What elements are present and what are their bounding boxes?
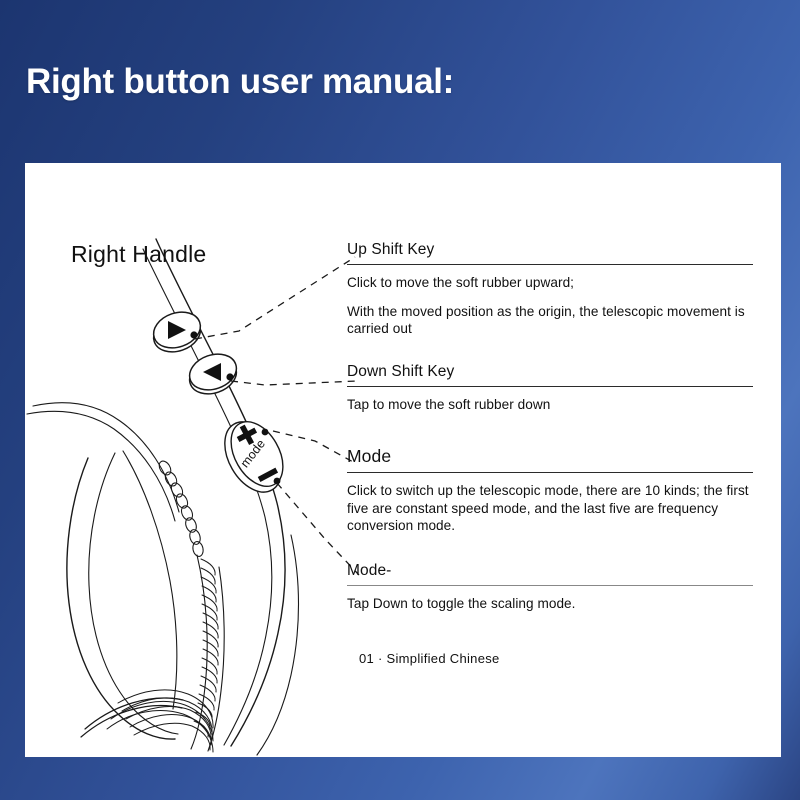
page-title: Right button user manual: [26,62,454,102]
shell-top-left-edge [33,403,179,512]
coil-base-detail [107,690,213,752]
spec-line: With the moved position as the origin, t… [347,303,753,338]
spec-block-down-shift-key: Down Shift Key Tap to move the soft rubb… [347,363,753,414]
mode-plus-dot-icon [262,429,269,436]
spec-heading: Mode- [347,562,753,586]
ribbed-texture-strip [194,559,218,737]
leader-down-shift [231,381,357,385]
body-right-silhouette [257,535,299,755]
cavity-outer [67,458,175,739]
spec-line: Tap to move the soft rubber down [347,396,753,414]
leader-up-shift [195,257,355,339]
spec-block-mode-minus: Mode- Tap Down to toggle the scaling mod… [347,562,753,613]
spec-body: Tap Down to toggle the scaling mode. [347,586,753,613]
content-card: mode Right Handle Up Shift Key [25,163,781,757]
spec-line: Tap Down to toggle the scaling mode. [347,595,753,613]
cavity-inner [89,453,178,734]
spec-block-up-shift-key: Up Shift Key Click to move the soft rubb… [347,241,753,338]
up-key-dot-icon [190,331,197,338]
spec-heading: Mode [347,446,753,473]
right-handle-label: Right Handle [71,241,206,268]
spec-line: Click to move the soft rubber upward; [347,274,753,292]
leader-lines [195,257,359,575]
up-shift-key-button[interactable] [149,306,205,358]
leader-mode [273,431,355,463]
spec-list: Up Shift Key Click to move the soft rubb… [347,163,767,757]
rib-strip-left-edge [191,555,207,749]
footnote-label: 01 · Simplified Chinese [359,651,500,666]
spec-body: Click to move the soft rubber upward; Wi… [347,265,753,338]
spec-heading: Up Shift Key [347,241,753,265]
down-key-dot-icon [226,373,233,380]
spec-block-mode: Mode Click to switch up the telescopic m… [347,446,753,535]
spec-body: Tap to move the soft rubber down [347,387,753,414]
mode-button[interactable]: mode [213,412,293,502]
shell-top-left-edge-2 [27,411,175,521]
spec-body: Click to switch up the telescopic mode, … [347,473,753,535]
device-illustration: mode Right Handle [25,163,385,757]
cavity-wall [123,451,177,709]
manual-slide: Right button user manual: [0,0,800,800]
spec-heading: Down Shift Key [347,363,753,387]
rim-bead-chain [157,459,205,557]
spec-line: Click to switch up the telescopic mode, … [347,482,753,535]
